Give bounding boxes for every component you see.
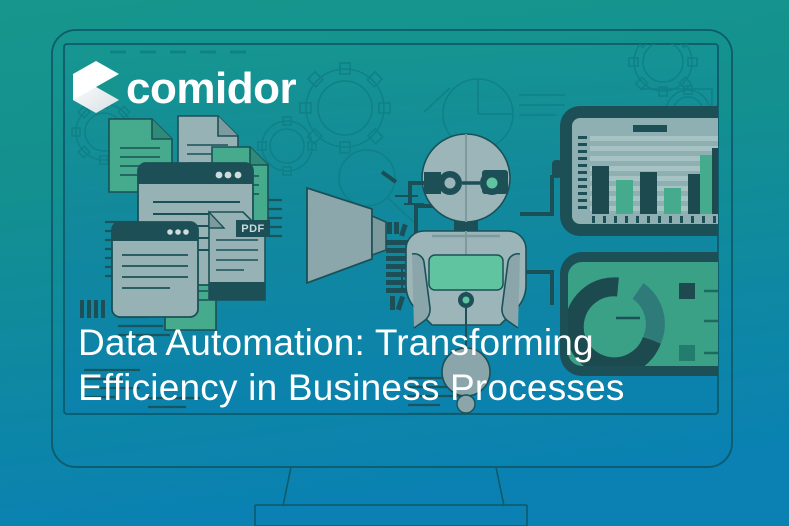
bar-chart-title-bar <box>633 125 667 132</box>
bar-2 <box>616 180 633 214</box>
browser-window-dots <box>216 172 242 179</box>
robot-chest-panel <box>429 255 503 290</box>
bar-chart-panel[interactable] <box>552 106 740 236</box>
bar-1 <box>592 166 609 214</box>
bar-chart-side-port <box>552 160 562 178</box>
document-pdf[interactable]: PDF <box>209 212 270 300</box>
bar-4 <box>664 188 681 214</box>
bar-3 <box>640 172 657 214</box>
logo-wordmark: comidor <box>126 64 296 113</box>
headline-line-2: Efficiency in Business Processes <box>78 367 625 408</box>
banner-stage: PDF <box>0 0 789 526</box>
headline-line-1: Data Automation: Transforming <box>78 322 594 363</box>
browser-window-small-dots <box>167 229 189 235</box>
brand-logo[interactable]: comidor <box>73 61 296 113</box>
pdf-badge-label: PDF <box>241 223 265 235</box>
browser-window-small[interactable] <box>112 222 198 317</box>
